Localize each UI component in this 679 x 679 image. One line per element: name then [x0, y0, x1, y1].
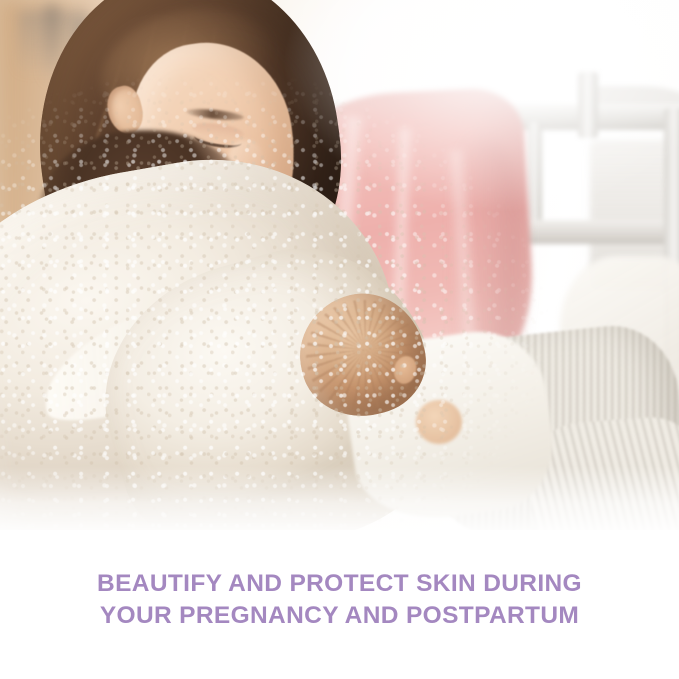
caption-band: BEAUTIFY AND PROTECT SKIN DURING YOUR PR… [0, 530, 679, 679]
headline-line-1: BEAUTIFY AND PROTECT SKIN DURING [0, 568, 679, 600]
stage-badge-row: STAGE a 1-5 MONTHS OF PREGNANCY STAGE b [0, 441, 679, 511]
crib-slat [528, 122, 542, 228]
headline: BEAUTIFY AND PROTECT SKIN DURING YOUR PR… [0, 568, 679, 632]
headline-line-2: YOUR PREGNANCY AND POSTPARTUM [0, 600, 679, 632]
baby-hand [416, 400, 462, 444]
banner-canvas: STAGE a 1-5 MONTHS OF PREGNANCY STAGE b [0, 0, 679, 679]
crib-post [578, 72, 598, 138]
